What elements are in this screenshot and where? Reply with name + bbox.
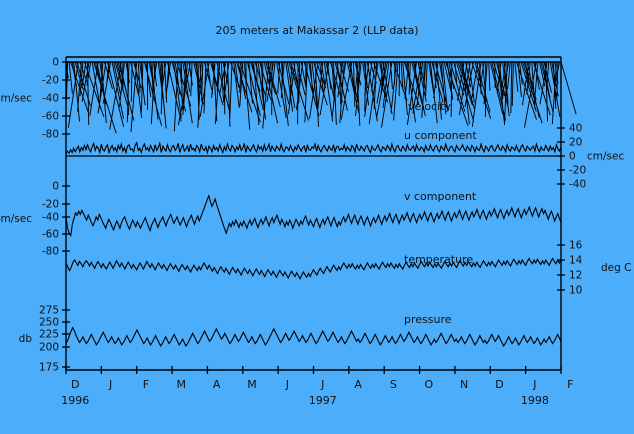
chart-canvas: 205 meters at Makassar 2 (LLP data) 0-20… — [0, 0, 634, 434]
xtick-label-month: N — [460, 378, 468, 391]
xtick-label-month: M — [177, 378, 187, 391]
ytick-label-u_component: 40 — [569, 123, 582, 135]
ytick-label-pressure: 225 — [39, 329, 59, 341]
ytick-label-pressure: 250 — [39, 317, 59, 329]
panel-label-velocity: velocity — [408, 100, 451, 113]
ytick-label-pressure: 200 — [39, 342, 59, 354]
panel-label-u_component: u component — [404, 129, 477, 142]
ytick-label-velocity: 0 — [52, 57, 59, 69]
y-axis-label-u_component: cm/sec — [587, 151, 624, 163]
ytick-label-velocity: -60 — [42, 111, 59, 123]
xtick-label-month: M — [247, 378, 257, 391]
ytick-label-u_component: -20 — [569, 165, 586, 177]
panel-label-pressure: pressure — [404, 313, 452, 326]
ytick-label-v_component: -60 — [42, 229, 59, 241]
xtick-label-month: F — [567, 378, 573, 391]
ytick-label-v_component: 0 — [52, 181, 59, 193]
ytick-label-pressure: 275 — [39, 305, 59, 317]
series-line-temperature — [66, 259, 561, 279]
panel-label-temperature: temperature — [404, 253, 473, 266]
xtick-label-month: J — [532, 378, 536, 391]
series-line-v_component — [66, 196, 561, 236]
ytick-label-temperature: 10 — [569, 285, 582, 297]
xtick-label-month: A — [213, 378, 221, 391]
ytick-label-v_component: -20 — [42, 199, 59, 211]
ytick-label-velocity: -80 — [42, 129, 59, 141]
xtick-label-month: J — [320, 378, 324, 391]
xtick-label-month: J — [108, 378, 112, 391]
ytick-label-velocity: -40 — [42, 93, 59, 105]
xtick-label-year: 1998 — [521, 394, 549, 407]
xtick-label-year: 1996 — [61, 394, 89, 407]
panel-label-v_component: v component — [404, 190, 477, 203]
y-axis-label-velocity: cm/sec — [0, 93, 32, 105]
velocity-stick-plot — [66, 62, 576, 133]
y-axis-label-v_component: cm/sec — [0, 213, 32, 225]
ytick-label-v_component: -80 — [42, 246, 59, 258]
y-axis-label-temperature: deg C — [601, 262, 631, 274]
ytick-label-u_component: 0 — [569, 151, 576, 163]
timeseries-plot: 0-20-40-60-80cm/sec0-20-40-60-80cm/sec27… — [0, 0, 634, 434]
xtick-label-month: J — [285, 378, 289, 391]
ytick-label-v_component: -40 — [42, 212, 59, 224]
xtick-label-month: D — [71, 378, 79, 391]
ytick-label-temperature: 12 — [569, 270, 582, 282]
ytick-label-velocity: -20 — [42, 75, 59, 87]
ytick-label-u_component: -40 — [569, 179, 586, 191]
ytick-label-temperature: 14 — [569, 255, 583, 267]
xtick-label-month: D — [495, 378, 503, 391]
ytick-label-temperature: 16 — [569, 240, 583, 252]
xtick-label-year: 1997 — [309, 394, 337, 407]
series-line-u_component — [66, 143, 561, 154]
y-axis-label-pressure: db — [19, 333, 33, 345]
xtick-label-month: O — [424, 378, 433, 391]
ytick-label-pressure: 175 — [39, 362, 59, 374]
xtick-label-month: S — [390, 378, 397, 391]
xtick-label-month: F — [143, 378, 149, 391]
xtick-label-month: A — [354, 378, 362, 391]
ytick-label-u_component: 20 — [569, 137, 582, 149]
series-line-pressure — [66, 328, 561, 346]
